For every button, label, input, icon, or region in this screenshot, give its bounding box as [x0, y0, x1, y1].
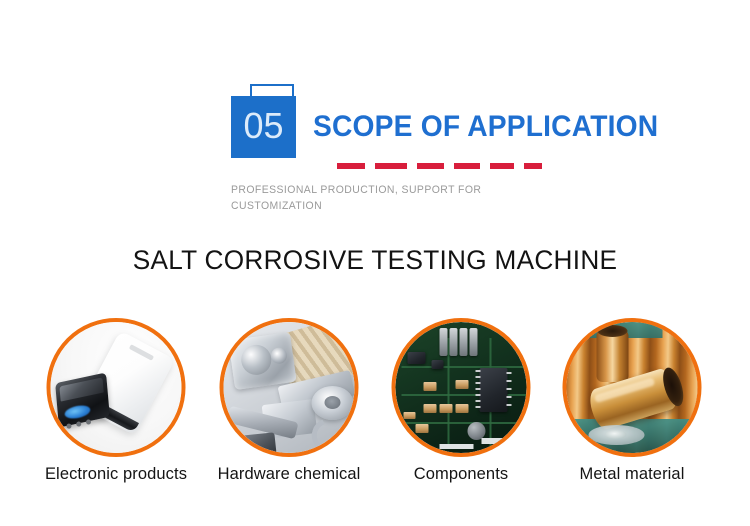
pcb-resistor [456, 404, 469, 413]
badge-number-label: 05 [231, 96, 296, 158]
dark-metal-shape [240, 432, 276, 453]
card-image-metal-material [567, 322, 698, 453]
electronics-photo-illustration [51, 322, 182, 453]
divider-dash [417, 163, 444, 169]
card-caption: Electronic products [31, 464, 202, 484]
card-image-circle [392, 318, 531, 457]
pcb-resistor [416, 424, 429, 433]
metal-disc-shape [589, 425, 645, 445]
section-subtitle: PROFESSIONAL PRODUCTION, SUPPORT FOR CUS… [231, 182, 535, 214]
card-image-hardware-chemical [224, 322, 355, 453]
upright-copper-tube [597, 330, 629, 382]
pcb-resistor [456, 380, 469, 389]
machined-block-shape [228, 332, 296, 390]
card-image-circle [563, 318, 702, 457]
pcb-capacitor [450, 328, 458, 356]
application-card-components[interactable]: Components [373, 316, 549, 516]
application-card-metal-material[interactable]: Metal material [544, 316, 720, 516]
slide-root: 05 SCOPE OF APPLICATION PROFESSIONAL PRO… [0, 0, 750, 526]
card-image-components [396, 322, 527, 453]
section-header: 05 SCOPE OF APPLICATION PROFESSIONAL PRO… [0, 0, 750, 230]
pcb-photo-illustration [396, 322, 527, 453]
metal-ring-shape [312, 386, 354, 420]
pcb-small-chip [408, 352, 426, 364]
pcb-resistor [404, 412, 416, 419]
copper-photo-illustration [567, 322, 698, 453]
pcb-small-chip [432, 360, 444, 369]
pcb-silkscreen-bar [440, 444, 474, 449]
pcb-resistor [424, 404, 437, 413]
title-dash-divider [337, 163, 542, 169]
card-caption: Metal material [547, 464, 718, 484]
divider-dash [454, 163, 481, 169]
card-image-circle [220, 318, 359, 457]
card-caption: Components [376, 464, 547, 484]
pcb-capacitor [460, 328, 468, 356]
pcb-integrated-circuit [480, 368, 508, 412]
application-card-hardware-chemical[interactable]: Hardware chemical [201, 316, 377, 516]
pcb-silkscreen-bar [482, 438, 504, 444]
section-number-badge: 05 [231, 84, 301, 162]
card-image-circle [47, 318, 186, 457]
pcb-resistor [440, 404, 453, 413]
pcb-resistor [424, 382, 437, 391]
divider-dash [337, 163, 365, 169]
page-title: SALT CORROSIVE TESTING MACHINE [11, 245, 739, 276]
section-title: SCOPE OF APPLICATION [313, 110, 658, 144]
divider-dash [524, 163, 542, 169]
card-image-electronic-products [51, 322, 182, 453]
hardware-photo-illustration [224, 322, 355, 453]
application-card-electronic-products[interactable]: Electronic products [28, 316, 204, 516]
divider-dash [490, 163, 514, 169]
black-device-shape [55, 373, 110, 428]
pcb-capacitor [470, 328, 478, 356]
pcb-capacitor [440, 328, 448, 356]
divider-dash [375, 163, 407, 169]
application-card-list: Electronic products [0, 316, 750, 516]
card-caption: Hardware chemical [204, 464, 375, 484]
